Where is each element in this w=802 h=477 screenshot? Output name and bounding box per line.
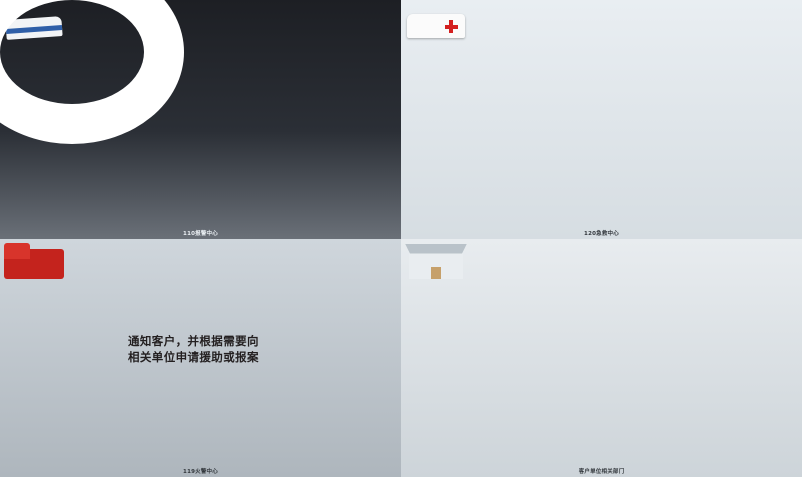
diagram-canvas: 人技结合实现简图 The diagram of Man-Tech combine… bbox=[0, 0, 802, 477]
rescue-tile-label-110: 110报警中心 bbox=[0, 229, 401, 237]
node-rescue-units-photo: 110报警中心 120急救中心 119火警中心 客户单位相关部门 bbox=[0, 0, 144, 104]
rescue-tile-label-120: 120急救中心 bbox=[401, 229, 802, 237]
rescue-tile-label-119: 119火警中心 bbox=[0, 467, 401, 475]
rescue-tile-label-client: 客户单位相关部门 bbox=[401, 467, 802, 475]
oval-mask bbox=[0, 0, 144, 104]
caption-rescue-units: 通知客户，并根据需要向 相关单位申请援助或报案 bbox=[128, 334, 259, 365]
